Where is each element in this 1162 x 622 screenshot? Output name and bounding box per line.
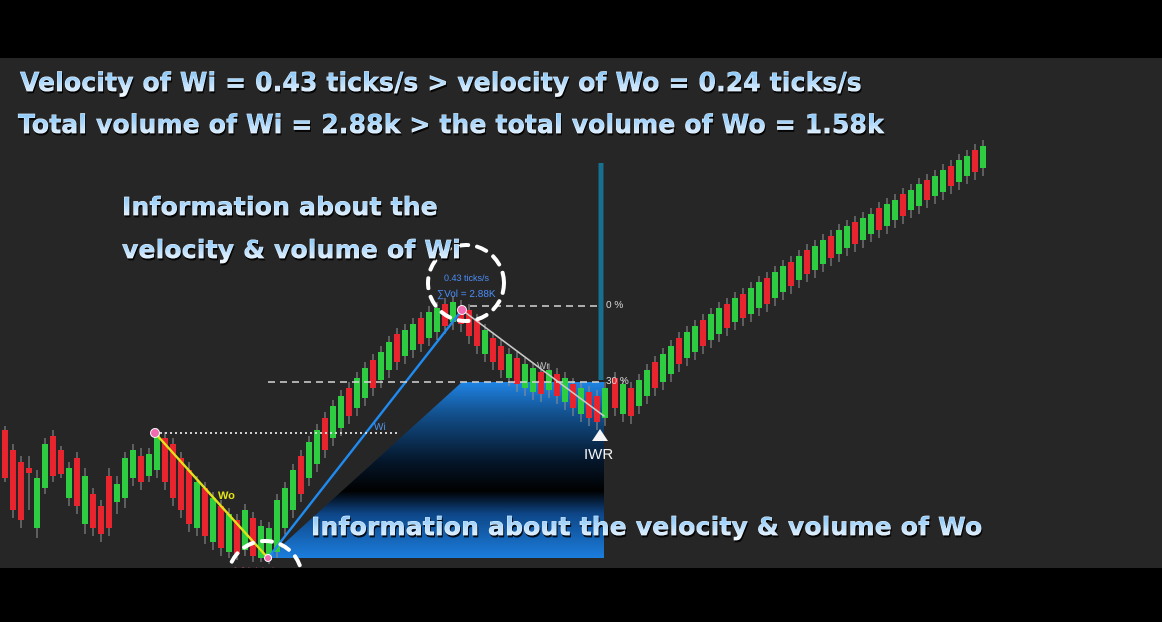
headline-volume: Total volume of Wi = 2.88k > the total v…	[18, 110, 884, 140]
wr-leg-label: Wr	[537, 361, 550, 372]
wi-volume-label: ∑Vol = 2.88K	[437, 289, 496, 300]
screenshot-root: 0.43 ticks/s ∑Vol = 2.88K 0.24 ticks/s ∑…	[0, 0, 1162, 622]
iwr-triangle-icon	[592, 429, 608, 441]
wi-note-line-2: velocity & volume of Wi	[122, 235, 461, 264]
wo-note: Information about the velocity & volume …	[311, 512, 982, 541]
level-0pct-label: 0 %	[606, 300, 623, 311]
headline-velocity: Velocity of Wi = 0.43 ticks/s > velocity…	[20, 68, 862, 98]
wi-leg-label: Wi	[374, 422, 386, 433]
level-30pct-label: 30 %	[606, 376, 629, 387]
wo-leg-label: Wo	[218, 490, 235, 502]
wi-note-line-1: Information about the	[122, 192, 438, 221]
wi-velocity-label: 0.43 ticks/s	[444, 273, 489, 283]
wo-velocity-label: 0.24 ticks/s	[233, 566, 278, 568]
iwr-label: IWR	[584, 446, 613, 463]
